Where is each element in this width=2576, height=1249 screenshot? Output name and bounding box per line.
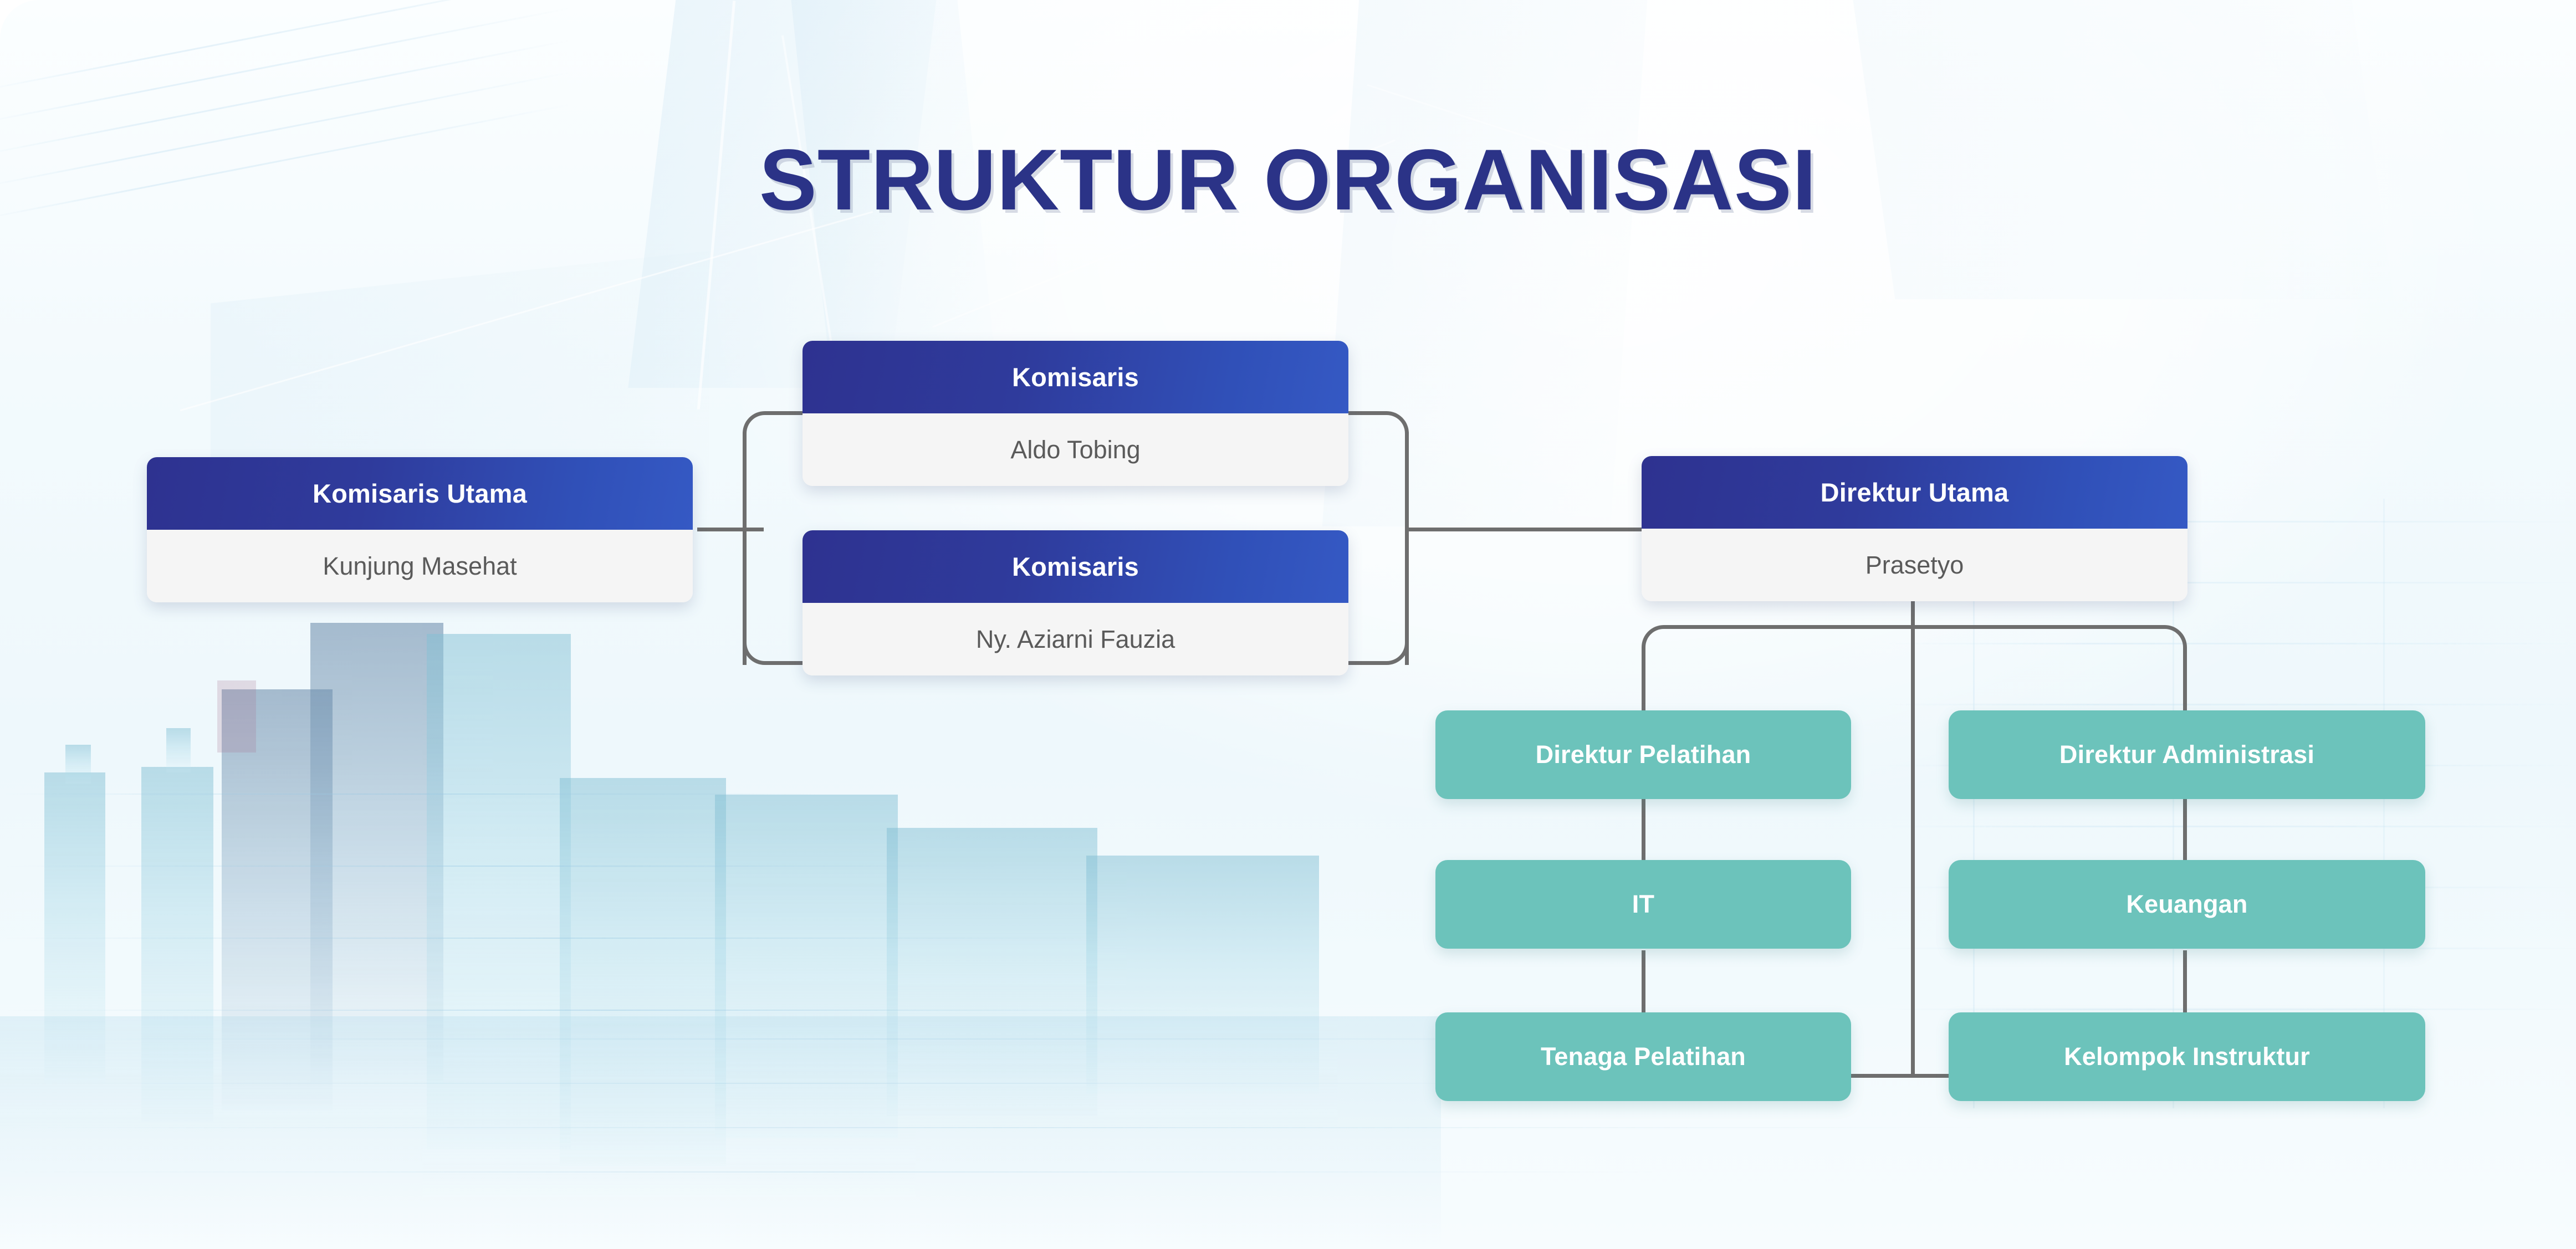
connector-to-direktur-administrasi [2183, 651, 2187, 713]
node-komisaris-utama-name: Kunjung Masehat [147, 530, 693, 602]
node-direktur-utama[interactable]: Direktur Utama Prasetyo [1642, 456, 2187, 601]
node-komisaris-utama[interactable]: Komisaris Utama Kunjung Masehat [147, 457, 693, 602]
connector-du-split-right [1911, 625, 2160, 629]
node-keuangan[interactable]: Keuangan [1949, 860, 2425, 949]
connector-to-direktur-pelatihan [1642, 651, 1645, 713]
connector-corner-top-right [1373, 411, 1409, 447]
node-komisaris-utama-role: Komisaris Utama [147, 457, 693, 530]
node-direktur-pelatihan[interactable]: Direktur Pelatihan [1435, 710, 1851, 799]
connector-keuangan-to-kelompok [2183, 950, 2187, 1017]
connector-pelatihan-to-it [1642, 798, 1645, 864]
node-it[interactable]: IT [1435, 860, 1851, 949]
node-komisaris-2-role: Komisaris [803, 530, 1348, 603]
node-direktur-administrasi[interactable]: Direktur Administrasi [1949, 710, 2425, 799]
connector-du-down [1911, 601, 1915, 1078]
connector-du-split-left [1668, 625, 1915, 629]
connector-corner-split-right [2158, 625, 2187, 654]
node-komisaris-1-name: Aldo Tobing [803, 413, 1348, 486]
node-tenaga-pelatihan[interactable]: Tenaga Pelatihan [1435, 1012, 1851, 1101]
node-direktur-utama-role: Direktur Utama [1642, 456, 2187, 529]
connector-corner-split-left [1642, 625, 1670, 654]
connector-ku-to-spine [697, 528, 764, 531]
node-komisaris-2[interactable]: Komisaris Ny. Aziarni Fauzia [803, 530, 1348, 675]
connector-administrasi-to-keuangan [2183, 798, 2187, 864]
node-komisaris-2-name: Ny. Aziarni Fauzia [803, 603, 1348, 675]
connector-it-to-tenaga [1642, 950, 1645, 1017]
org-chart-canvas: STRUKTUR ORGANISASI [0, 0, 2576, 1249]
connector-spine-to-direktur-utama [1405, 528, 1652, 531]
node-komisaris-1-role: Komisaris [803, 341, 1348, 413]
connector-corner-bottom-left [743, 629, 778, 665]
connector-corner-top-left [743, 411, 778, 447]
connector-corner-bottom-right [1373, 629, 1409, 665]
node-kelompok-instruktur[interactable]: Kelompok Instruktur [1949, 1012, 2425, 1101]
node-direktur-utama-name: Prasetyo [1642, 529, 2187, 601]
node-komisaris-1[interactable]: Komisaris Aldo Tobing [803, 341, 1348, 486]
